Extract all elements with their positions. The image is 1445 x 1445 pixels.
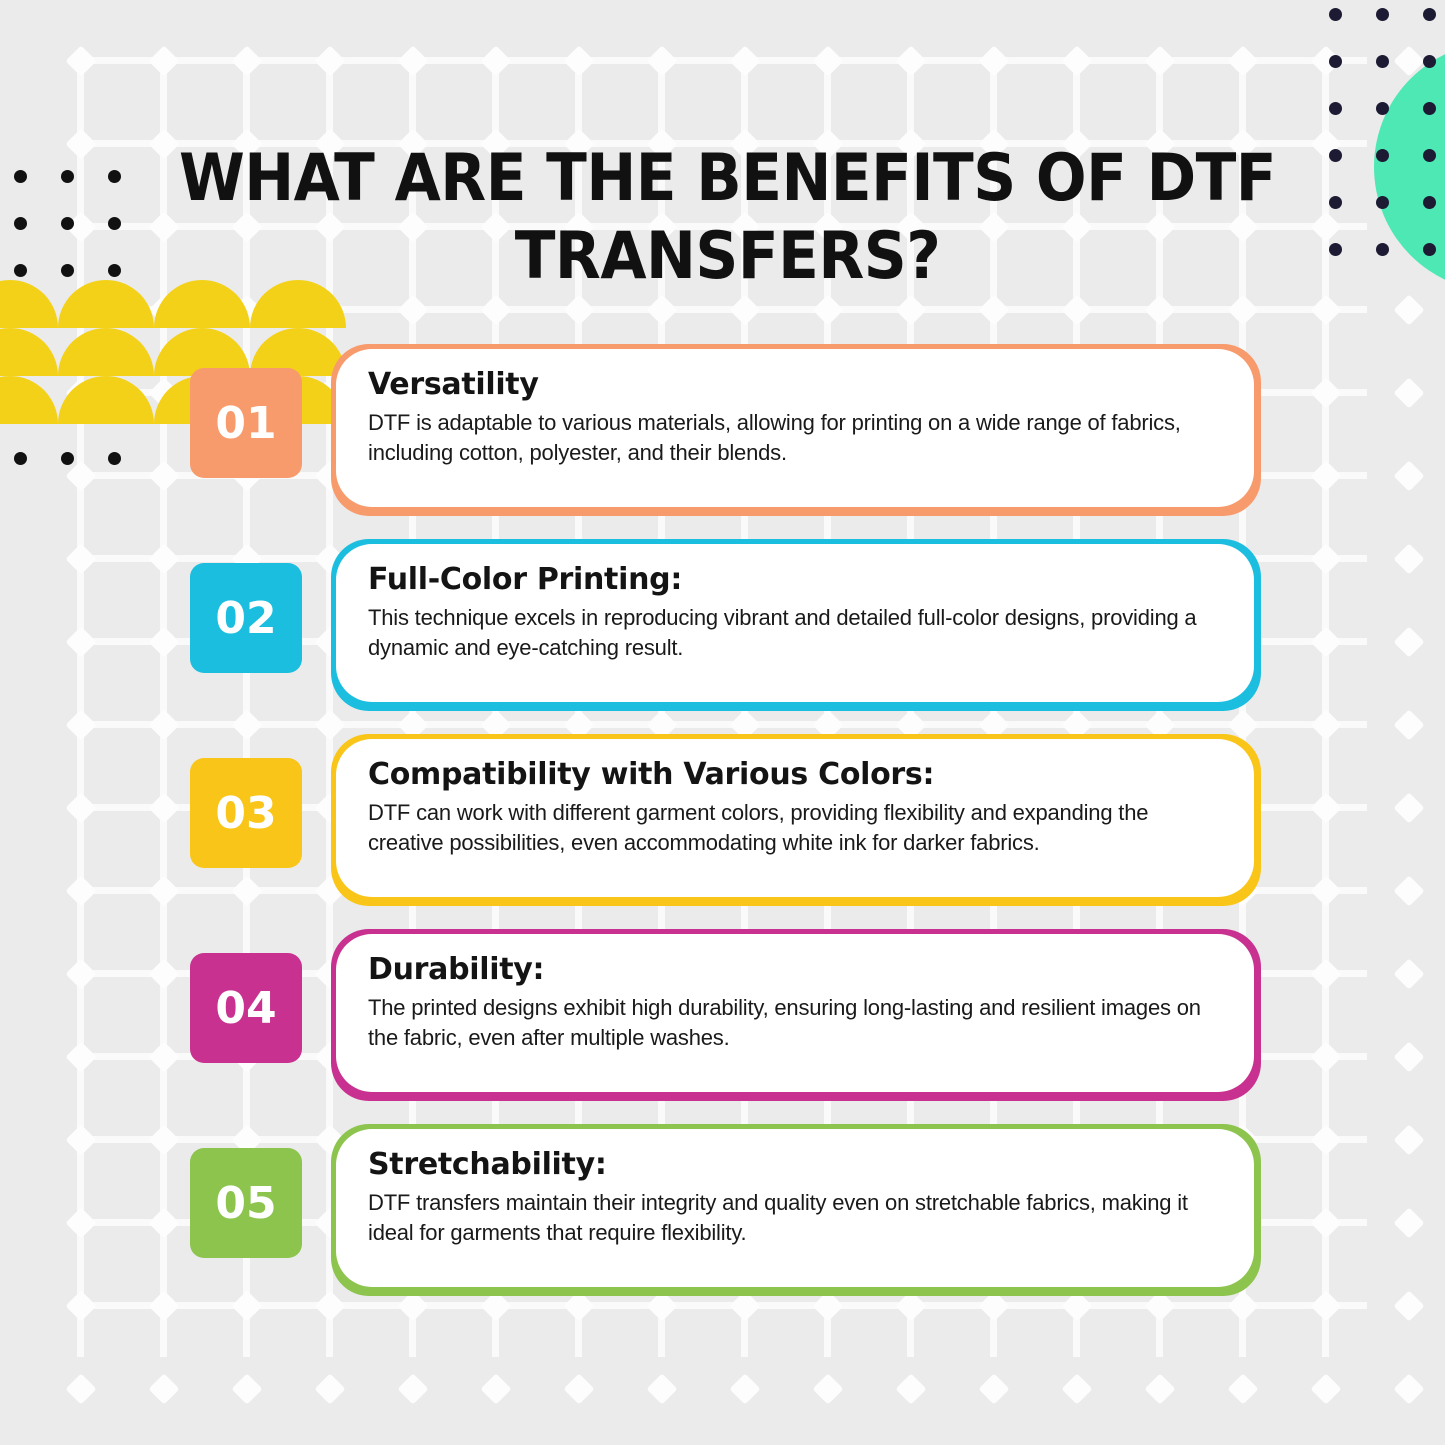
benefit-card-frame: Full-Color Printing:This technique excel… <box>331 539 1261 711</box>
benefit-card-list: 01VersatilityDTF is adaptable to various… <box>185 340 1275 1315</box>
grid-diamond <box>563 45 594 76</box>
benefit-card[interactable]: 01VersatilityDTF is adaptable to various… <box>185 340 1275 535</box>
grid-diamond <box>65 543 96 574</box>
decor-semicircle <box>58 328 154 376</box>
benefit-card-frame: VersatilityDTF is adaptable to various m… <box>331 344 1261 516</box>
benefit-card-content: VersatilityDTF is adaptable to various m… <box>336 349 1254 507</box>
decor-dot <box>14 264 27 277</box>
benefit-description: DTF transfers maintain their integrity a… <box>368 1188 1222 1248</box>
grid-diamond <box>65 709 96 740</box>
grid-diamond <box>1393 543 1424 574</box>
grid-diamond <box>1310 792 1341 823</box>
decor-dot <box>1376 196 1389 209</box>
benefit-description: This technique excels in reproducing vib… <box>368 603 1222 663</box>
grid-diamond <box>65 1373 96 1404</box>
benefit-card[interactable]: 04Durability:The printed designs exhibit… <box>185 925 1275 1120</box>
decor-dot <box>1376 149 1389 162</box>
grid-diamond <box>895 294 926 325</box>
decor-dot <box>61 264 74 277</box>
grid-diamond <box>729 1373 760 1404</box>
decor-semicircle <box>58 376 154 424</box>
benefit-number-badge: 02 <box>190 563 302 673</box>
decor-dot <box>1423 196 1436 209</box>
decor-dot <box>1423 149 1436 162</box>
grid-diamond <box>1061 45 1092 76</box>
grid-diamond <box>812 294 843 325</box>
benefit-title: Full-Color Printing: <box>368 562 1222 597</box>
decor-semicircle <box>0 376 58 424</box>
grid-diamond <box>1227 45 1258 76</box>
grid-diamond <box>978 45 1009 76</box>
decor-dot <box>1376 102 1389 115</box>
grid-diamond <box>895 1373 926 1404</box>
grid-diamond <box>1310 211 1341 242</box>
grid-diamond <box>65 1290 96 1321</box>
benefit-title: Durability: <box>368 952 1222 987</box>
decor-dot <box>14 217 27 230</box>
benefit-number-badge: 03 <box>190 758 302 868</box>
grid-diamond <box>1227 1373 1258 1404</box>
grid-diamond <box>1061 294 1092 325</box>
grid-diamond <box>1393 1041 1424 1072</box>
benefit-card-content: Durability:The printed designs exhibit h… <box>336 934 1254 1092</box>
decor-dot <box>1329 55 1342 68</box>
grid-diamond <box>1393 294 1424 325</box>
grid-diamond <box>812 1373 843 1404</box>
grid-diamond <box>1310 875 1341 906</box>
grid-diamond <box>397 45 428 76</box>
grid-diamond <box>148 1207 179 1238</box>
grid-diamond <box>1393 875 1424 906</box>
grid-diamond <box>729 45 760 76</box>
grid-diamond <box>1227 294 1258 325</box>
grid-diamond <box>480 45 511 76</box>
grid-diamond <box>1393 1124 1424 1155</box>
decor-dot <box>61 217 74 230</box>
grid-diamond <box>1393 377 1424 408</box>
decor-dot <box>1376 55 1389 68</box>
grid-diamond <box>1310 958 1341 989</box>
grid-diamond <box>1310 709 1341 740</box>
grid-diamond <box>231 45 262 76</box>
decor-semicircle <box>0 280 58 328</box>
grid-diamond <box>1310 460 1341 491</box>
benefit-title: Versatility <box>368 367 1222 402</box>
grid-diamond <box>65 875 96 906</box>
grid-diamond <box>1393 1207 1424 1238</box>
benefit-number-badge: 05 <box>190 1148 302 1258</box>
grid-diamond <box>148 875 179 906</box>
grid-diamond <box>148 792 179 823</box>
grid-diamond <box>1310 1207 1341 1238</box>
grid-diamond <box>1310 1290 1341 1321</box>
benefit-number-badge: 01 <box>190 368 302 478</box>
decor-dot <box>1329 102 1342 115</box>
benefit-description: DTF is adaptable to various materials, a… <box>368 408 1222 468</box>
grid-diamond <box>148 709 179 740</box>
benefit-card-content: Full-Color Printing:This technique excel… <box>336 544 1254 702</box>
grid-diamond <box>148 45 179 76</box>
grid-diamond <box>1393 460 1424 491</box>
grid-diamond <box>65 45 96 76</box>
decor-dot <box>108 170 121 183</box>
benefit-card[interactable]: 03Compatibility with Various Colors:DTF … <box>185 730 1275 925</box>
decor-dot <box>108 264 121 277</box>
grid-diamond <box>1144 294 1175 325</box>
decor-dot <box>1329 243 1342 256</box>
benefit-card-content: Stretchability:DTF transfers maintain th… <box>336 1129 1254 1287</box>
page-title: WHAT ARE THE BENEFITS OF DTF TRANSFERS? <box>174 140 1281 296</box>
grid-diamond <box>1393 1290 1424 1321</box>
benefit-number-badge: 04 <box>190 953 302 1063</box>
grid-diamond <box>480 294 511 325</box>
infographic-canvas: WHAT ARE THE BENEFITS OF DTF TRANSFERS? … <box>0 0 1445 1445</box>
decor-dot <box>14 170 27 183</box>
grid-diamond <box>1310 377 1341 408</box>
grid-diamond <box>231 1373 262 1404</box>
decor-dot <box>1329 196 1342 209</box>
grid-diamond <box>480 1373 511 1404</box>
grid-diamond <box>65 1124 96 1155</box>
grid-diamond <box>1393 792 1424 823</box>
grid-diamond <box>65 626 96 657</box>
grid-diamond <box>1144 45 1175 76</box>
decor-semicircle <box>0 328 58 376</box>
grid-diamond <box>148 1373 179 1404</box>
grid-diamond <box>563 294 594 325</box>
benefit-title: Compatibility with Various Colors: <box>368 757 1222 792</box>
grid-diamond <box>1310 1373 1341 1404</box>
grid-diamond <box>65 958 96 989</box>
grid-diamond <box>978 1373 1009 1404</box>
grid-diamond <box>1393 626 1424 657</box>
grid-diamond <box>1310 294 1341 325</box>
decor-dot <box>1423 102 1436 115</box>
grid-diamond <box>148 958 179 989</box>
decor-dot <box>1423 8 1436 21</box>
grid-diamond <box>646 45 677 76</box>
grid-diamond <box>646 1373 677 1404</box>
grid-diamond <box>397 294 428 325</box>
grid-diamond <box>1393 958 1424 989</box>
decor-dot <box>1423 55 1436 68</box>
grid-diamond <box>1310 543 1341 574</box>
grid-diamond <box>314 1373 345 1404</box>
benefit-card[interactable]: 02Full-Color Printing:This technique exc… <box>185 535 1275 730</box>
grid-diamond <box>314 45 345 76</box>
grid-diamond <box>148 1041 179 1072</box>
grid-diamond <box>1310 1041 1341 1072</box>
grid-diamond <box>148 626 179 657</box>
decor-dot <box>108 217 121 230</box>
grid-diamond <box>729 294 760 325</box>
benefit-card-frame: Durability:The printed designs exhibit h… <box>331 929 1261 1101</box>
grid-diamond <box>65 792 96 823</box>
benefit-title: Stretchability: <box>368 1147 1222 1182</box>
benefit-card-frame: Compatibility with Various Colors:DTF ca… <box>331 734 1261 906</box>
grid-diamond <box>978 294 1009 325</box>
benefit-description: The printed designs exhibit high durabil… <box>368 993 1222 1053</box>
grid-diamond <box>895 45 926 76</box>
grid-diamond <box>65 1207 96 1238</box>
grid-diamond <box>148 543 179 574</box>
grid-diamond <box>1310 1124 1341 1155</box>
grid-diamond <box>812 45 843 76</box>
grid-diamond <box>397 1373 428 1404</box>
grid-diamond <box>148 1290 179 1321</box>
grid-diamond <box>65 128 96 159</box>
grid-diamond <box>1144 1373 1175 1404</box>
grid-diamond <box>563 1373 594 1404</box>
grid-diamond <box>1393 709 1424 740</box>
decor-dot <box>1376 243 1389 256</box>
decor-dot <box>1329 8 1342 21</box>
grid-diamond <box>646 294 677 325</box>
decor-dot <box>1423 243 1436 256</box>
decor-dot <box>61 170 74 183</box>
benefit-card-frame: Stretchability:DTF transfers maintain th… <box>331 1124 1261 1296</box>
decor-dot <box>1329 149 1342 162</box>
benefit-description: DTF can work with different garment colo… <box>368 798 1222 858</box>
benefit-card-content: Compatibility with Various Colors:DTF ca… <box>336 739 1254 897</box>
grid-diamond <box>1393 1373 1424 1404</box>
grid-diamond <box>1061 1373 1092 1404</box>
decor-semicircle <box>58 280 154 328</box>
benefit-card[interactable]: 05Stretchability:DTF transfers maintain … <box>185 1120 1275 1315</box>
decor-dot <box>1376 8 1389 21</box>
grid-diamond <box>65 1041 96 1072</box>
grid-diamond <box>1310 626 1341 657</box>
grid-diamond <box>148 1124 179 1155</box>
